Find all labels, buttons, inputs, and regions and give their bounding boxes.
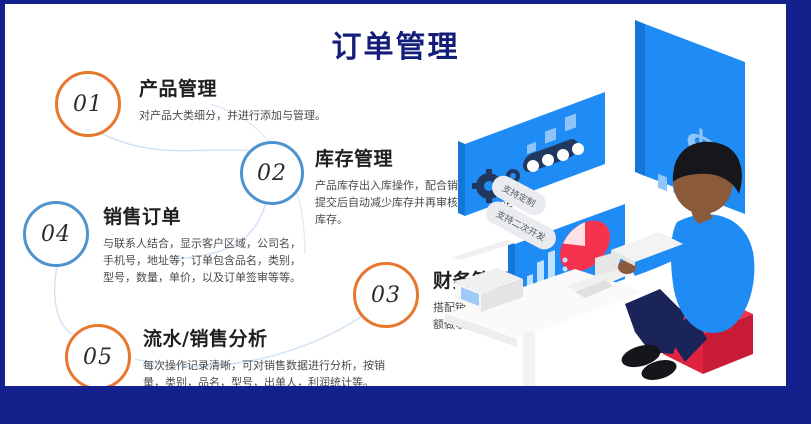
desc-line: 对产品大类细分，并进行添加与管理。 xyxy=(139,107,326,124)
slide-root: 订单管理 01 产品管理 对产品大类细分，并进行添加与管理。 02 xyxy=(0,0,811,424)
desc-line: 每次操作记录清晰，可对销售数据进行分析，按销 xyxy=(143,357,385,374)
item-description: 与联系人结合，显示客户区域，公司名， 手机号，地址等；订单包含品名，类别， 型号… xyxy=(103,235,301,286)
item-description: 对产品大类细分，并进行添加与管理。 xyxy=(139,107,326,124)
item-heading: 销售订单 xyxy=(103,202,301,229)
desc-line: 与联系人结合，显示客户区域，公司名， xyxy=(103,235,301,252)
step-circle-01[interactable]: 01 xyxy=(55,71,121,137)
right-frame-bar xyxy=(786,0,811,424)
item-heading: 流水/销售分析 xyxy=(143,324,385,351)
step-circle-05[interactable]: 05 xyxy=(65,324,131,386)
bottom-frame-bar xyxy=(0,386,811,424)
desc-line: 型号，数量，单价，以及订单签审等等。 xyxy=(103,269,301,286)
item-text-04: 销售订单 与联系人结合，显示客户区域，公司名， 手机号，地址等；订单包含品名，类… xyxy=(103,202,301,286)
isometric-illustration: $ xyxy=(445,14,786,386)
step-number: 03 xyxy=(371,283,401,308)
slide-canvas: 订单管理 01 产品管理 对产品大类细分，并进行添加与管理。 02 xyxy=(5,4,786,386)
step-number: 05 xyxy=(83,345,113,370)
step-number: 04 xyxy=(41,222,71,247)
illustration-svg: $ xyxy=(445,14,786,386)
item-text-01: 产品管理 对产品大类细分，并进行添加与管理。 xyxy=(139,74,326,124)
step-circle-02[interactable]: 02 xyxy=(240,141,304,205)
item-description: 每次操作记录清晰，可对销售数据进行分析，按销 量，类别，品名，型号，出单人，利润… xyxy=(143,357,385,386)
person-icon xyxy=(611,142,754,384)
step-number: 01 xyxy=(73,92,103,117)
step-circle-03[interactable]: 03 xyxy=(353,262,419,328)
item-heading: 产品管理 xyxy=(139,74,326,101)
desc-line: 量，类别，品名，型号，出单人，利润统计等。 xyxy=(143,374,385,386)
item-text-05: 流水/销售分析 每次操作记录清晰，可对销售数据进行分析，按销 量，类别，品名，型… xyxy=(143,324,385,386)
step-circle-04[interactable]: 04 xyxy=(23,201,89,267)
desc-line: 手机号，地址等；订单包含品名，类别， xyxy=(103,252,301,269)
step-number: 02 xyxy=(257,161,287,186)
